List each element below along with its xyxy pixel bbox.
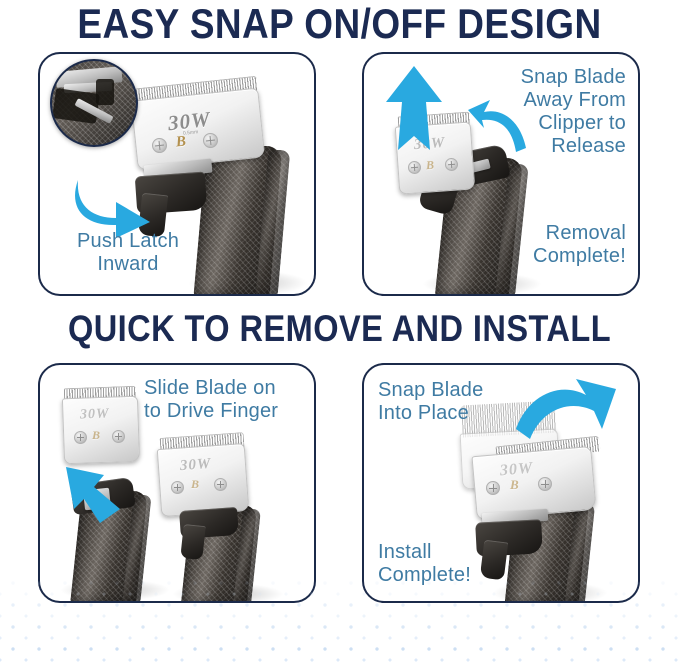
blade-size-label: 30W: [413, 135, 445, 154]
latch-arm: [180, 524, 205, 560]
panel-snap-into-place: 30W B Snap Blade Into Place Install Comp…: [362, 363, 640, 603]
panel-2-caption: Snap Blade Away From Clipper to Release: [460, 66, 626, 158]
panel-4-secondary-caption: Install Complete!: [378, 541, 534, 587]
blade-screw-left: [74, 431, 87, 444]
brand-logo-b: B: [92, 428, 100, 443]
panel-push-latch: 30W 0.5mm B Push Latch Inward: [38, 52, 316, 296]
infographic-root: EASY SNAP ON/OFF DESIGN 30W 0.5mm B: [0, 0, 679, 662]
blade-screw-right: [112, 430, 125, 443]
panel-1-caption: Push Latch Inward: [54, 230, 202, 276]
panel-2-secondary-caption: Removal Complete!: [460, 222, 626, 268]
blade-screw-right: [538, 477, 552, 491]
page-title-main: EASY SNAP ON/OFF DESIGN: [41, 1, 639, 47]
panel-3-caption: Slide Blade on to Drive Finger: [144, 377, 312, 423]
panel-slide-blade: 30W B 30W B Slide Blade on to Drive Fing…: [38, 363, 316, 603]
brand-logo-b: B: [425, 158, 434, 174]
brand-logo-b: B: [510, 477, 519, 493]
blade-plate: [157, 443, 250, 517]
page-title-sub: QUICK TO REMOVE AND INSTALL: [41, 308, 639, 349]
blade-screw-right: [214, 478, 227, 491]
brand-logo-b: B: [175, 134, 187, 152]
panel-snap-away: 30W B Snap Blade Away From Clipper to Re…: [362, 52, 640, 296]
blade-screw-left: [486, 481, 500, 495]
blade-size-label: 30W: [179, 456, 211, 475]
latch-closeup-inset: [50, 59, 138, 147]
brand-logo-b: B: [191, 477, 199, 492]
drive-finger: [83, 488, 111, 511]
panel-4-caption: Snap Blade Into Place: [378, 379, 534, 425]
blade-screw-left: [171, 481, 184, 494]
blade-size-label: 30W: [80, 406, 110, 423]
